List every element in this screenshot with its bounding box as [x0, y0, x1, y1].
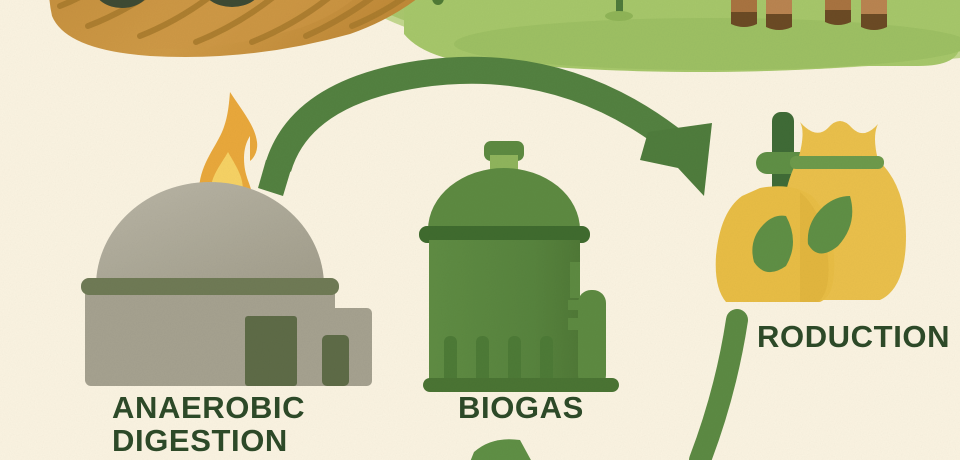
arrow-production-down: [700, 320, 737, 460]
tank-pipe-inner: [570, 262, 580, 298]
arrow-main-arc-head: [640, 123, 712, 196]
digester-body: [85, 288, 335, 386]
digester-dome-roof: [96, 182, 324, 286]
arrow-biogas-down-head: [470, 439, 532, 460]
stage-label-line-2: DIGESTION: [112, 425, 305, 458]
tank-pipe-link: [568, 300, 584, 310]
arrow-main-arc-tail: [258, 160, 292, 196]
sack-back-band: [790, 156, 884, 169]
stage-label-anaerobic-digestion: ANAEROBIC DIGESTION: [112, 392, 305, 458]
stage-label-production: RODUCTION: [757, 321, 950, 354]
arrow-biogas-down: [470, 439, 532, 460]
digester-door: [245, 316, 297, 386]
tank-pipe-stem: [568, 318, 580, 330]
biogas-storage-tank: [419, 141, 619, 392]
fertilizer-sacks: [716, 112, 906, 302]
arrow-main-arc-shaft: [278, 70, 672, 168]
stage-label-line-1: ANAEROBIC: [112, 392, 305, 425]
pasture-pole-shadow: [605, 11, 633, 21]
dome-digester-building: [81, 182, 372, 386]
tank-dome: [428, 168, 580, 230]
digester-band: [81, 278, 339, 295]
stage-label-biogas: BIOGAS: [458, 392, 584, 425]
arrow-production-down-shaft: [700, 320, 737, 460]
infographic-canvas: ANAEROBIC DIGESTION BIOGAS RODUCTION: [0, 0, 960, 460]
digester-window: [322, 335, 349, 386]
